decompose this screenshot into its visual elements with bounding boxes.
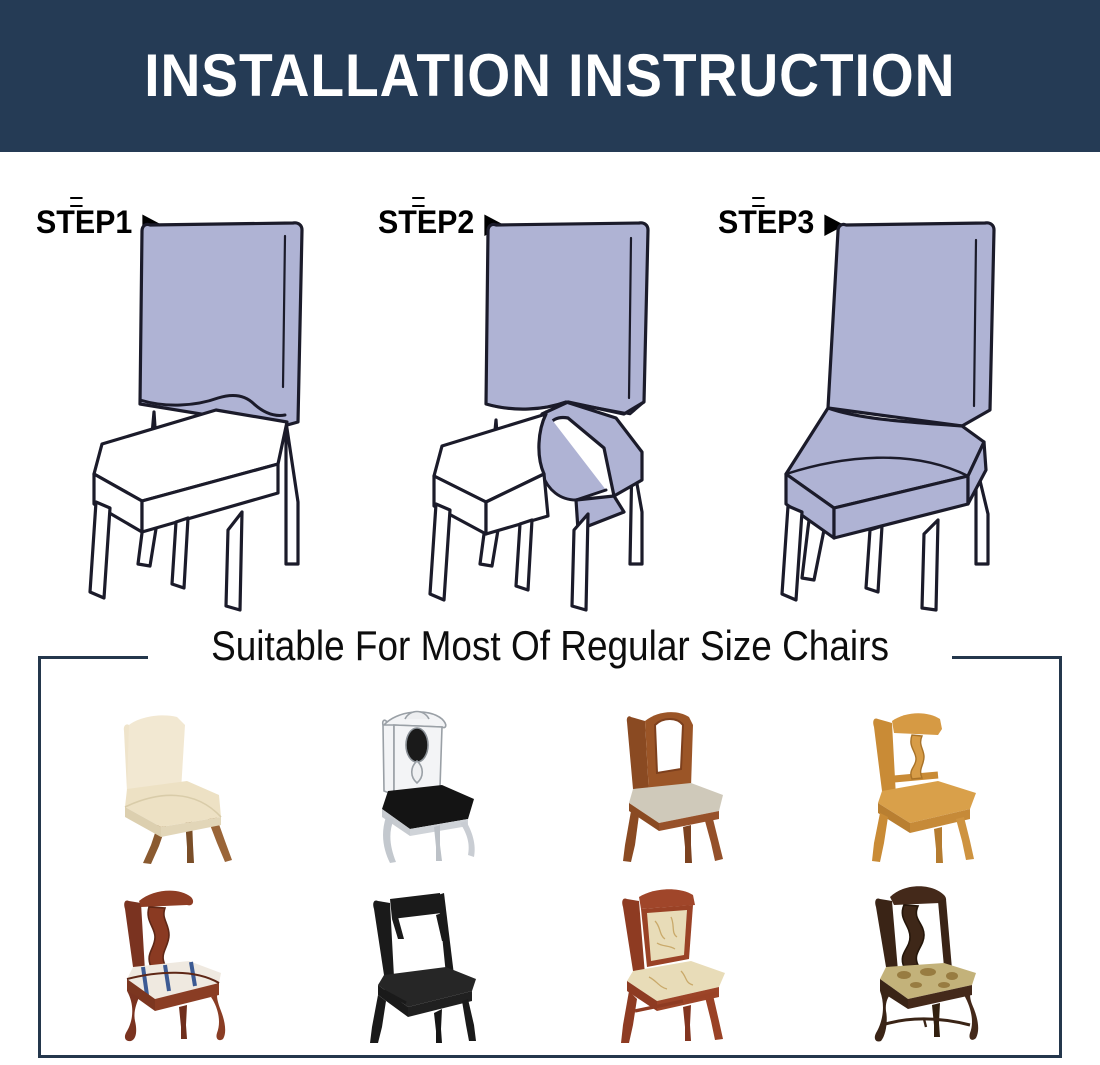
step-block-3: STEP3 ▶	[700, 152, 1050, 622]
chair-photo-silver-baroque-chair-black-seat	[299, 690, 550, 870]
chair-photo-dark-antique-rococo-chair-tapestry-seat	[801, 870, 1052, 1050]
step-block-2: STEP2 ▶	[360, 152, 710, 622]
box-border-left	[38, 656, 41, 1058]
box-border-bottom	[38, 1055, 1062, 1058]
header-banner: INSTALLATION INSTRUCTION	[0, 0, 1100, 152]
chair-photo-cream-upholstered-parsons-chair	[48, 690, 299, 870]
chair-photo-cherry-floral-upholstered-chair	[550, 870, 801, 1050]
page-title: INSTALLATION INSTRUCTION	[144, 46, 955, 106]
step-illustration-3	[762, 212, 1052, 617]
steps-row: STEP1 ▶	[0, 152, 1100, 622]
chair-photo-black-painted-slat-back-chair	[299, 870, 550, 1050]
chair-photo-golden-oak-vase-splat-chair	[801, 690, 1052, 870]
suitable-chairs-box: Suitable For Most Of Regular Size Chairs	[38, 656, 1062, 1058]
step-illustration-1	[76, 212, 366, 617]
box-border-right	[1059, 656, 1062, 1058]
suitable-title: Suitable For Most Of Regular Size Chairs	[99, 625, 1000, 667]
chair-photo-grid	[48, 690, 1052, 1050]
installation-instruction-page: INSTALLATION INSTRUCTION STEP1 ▶	[0, 0, 1100, 1065]
step-illustration-2	[418, 212, 708, 617]
step-block-1: STEP1 ▶	[18, 152, 368, 622]
chair-photo-walnut-slot-back-chair	[550, 690, 801, 870]
chair-photo-mahogany-chippendale-chair-striped-seat	[48, 870, 299, 1050]
